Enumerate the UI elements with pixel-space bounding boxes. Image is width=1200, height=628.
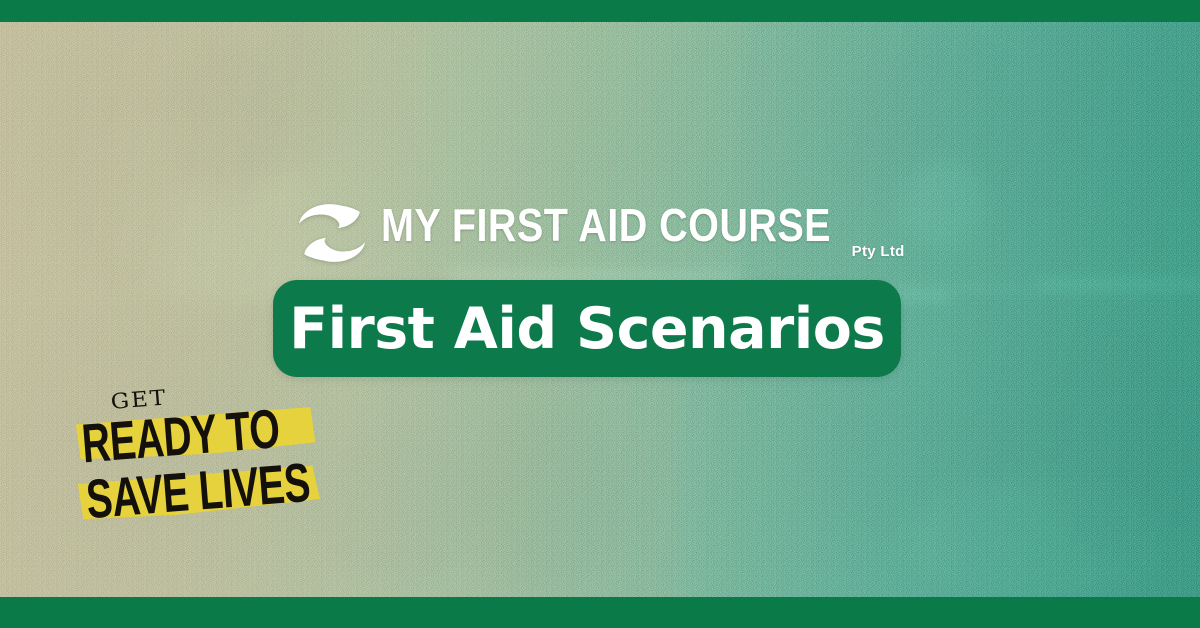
brand-wordmark: MY FIRST AID COURSE Pty Ltd: [381, 199, 904, 248]
page-title: First Aid Scenarios: [289, 299, 885, 359]
cupped-hands-logo-icon: [295, 201, 369, 265]
bottom-brand-bar: [0, 597, 1200, 628]
title-pill-banner: First Aid Scenarios: [273, 280, 901, 377]
brand-name: MY FIRST AID COURSE: [381, 202, 831, 248]
badge-headline-lines: READY TO SAVE LIVES: [80, 397, 367, 522]
get-ready-to-save-lives-badge: GET READY TO SAVE LIVES: [78, 371, 367, 522]
top-brand-bar: [0, 0, 1200, 22]
brand-legal-suffix: Pty Ltd: [852, 244, 905, 260]
brand-logo-lockup: MY FIRST AID COURSE Pty Ltd: [0, 199, 1200, 265]
first-aid-scenarios-banner: MY FIRST AID COURSE Pty Ltd First Aid Sc…: [0, 0, 1200, 628]
